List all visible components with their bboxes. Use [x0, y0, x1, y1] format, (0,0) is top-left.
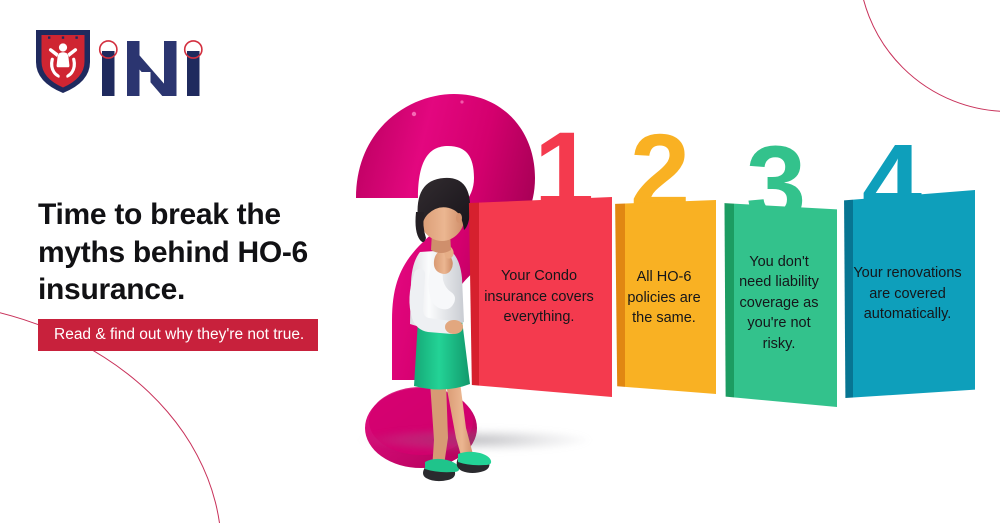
myth-card-1[interactable]: Your Condo insurance covers everything. — [466, 197, 612, 397]
logo-svg — [33, 24, 208, 96]
logo-wordmark — [100, 41, 202, 96]
cta-ribbon[interactable]: Read & find out why they're not true. — [38, 319, 318, 351]
myth-card-2-text: All HO-6 policies are the same. — [624, 267, 704, 329]
brand-logo[interactable] — [33, 24, 208, 96]
myth-card-4-text: Your renovations are covered automatical… — [852, 263, 963, 325]
myth-card-4[interactable]: Your renovations are covered automatical… — [840, 190, 975, 398]
myth-card-2[interactable]: All HO-6 policies are the same. — [612, 200, 716, 396]
myth-card-3-text: You don't need liability coverage as you… — [733, 252, 825, 355]
infographic-canvas: Time to break the myths behind HO-6 insu… — [0, 0, 1000, 523]
page-title: Time to break the myths behind HO-6 insu… — [38, 196, 368, 309]
shield-figure-logo — [36, 30, 90, 93]
myth-card-1-text: Your Condo insurance covers everything. — [478, 266, 600, 328]
myth-card-3[interactable]: You don't need liability coverage as you… — [721, 199, 837, 407]
